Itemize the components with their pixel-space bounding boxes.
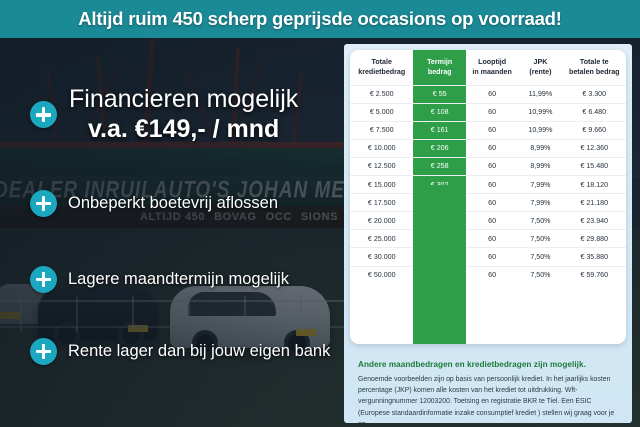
table-row: € 50.000€ 996607,50%€ 59.760: [350, 266, 626, 284]
table-cell: 7,50%: [518, 266, 562, 284]
table-cell: € 12.500: [350, 157, 413, 175]
disclaimer-title: Andere maandbedragen en kredietbedragen …: [358, 360, 620, 369]
column-header-line-2: bedrag: [428, 68, 452, 76]
table-cell: € 15.000: [350, 176, 413, 194]
table-row: € 12.500€ 258608,99%€ 15.480: [350, 157, 626, 175]
promo-banner-text: Altijd ruim 450 scherp geprijsde occasio…: [78, 8, 562, 30]
table-row: € 17.500€ 353607,99%€ 21.180: [350, 194, 626, 212]
benefit-item-0: Onbeperkt boetevrij aflossen: [30, 190, 278, 217]
column-header-line-1: Termijn: [427, 58, 452, 66]
column-header-total-payable: Totale te betalen bedrag: [563, 50, 627, 85]
column-header-line-2: (rente): [529, 68, 551, 76]
benefit-item-2: Rente lager dan bij jouw eigen bank: [30, 338, 330, 365]
column-header-line-1: JPK: [534, 58, 548, 66]
finance-info-panel: Totale kredietbedrag Termijn bedrag Loop…: [344, 44, 632, 423]
table-cell: € 2.500: [350, 85, 413, 103]
table-row: € 25.000€ 498607,50%€ 29.880: [350, 230, 626, 248]
table-cell: 60: [466, 176, 518, 194]
benefit-label-0: Onbeperkt boetevrij aflossen: [68, 193, 278, 214]
table-cell: € 108: [413, 103, 465, 121]
headline-lines: Financieren mogelijk v.a. €149,- / mnd: [69, 86, 298, 143]
table-cell: 7,50%: [518, 212, 562, 230]
benefits-list: Financieren mogelijk v.a. €149,- / mnd O…: [0, 38, 345, 427]
column-header-line-2: in maanden: [472, 68, 511, 76]
disclaimer-body: Genoemde voorbeelden zijn op basis van p…: [358, 374, 620, 423]
table-cell: 60: [466, 248, 518, 266]
headline-block: Financieren mogelijk v.a. €149,- / mnd: [30, 86, 298, 143]
table-cell: € 50.000: [350, 266, 413, 284]
table-cell: € 9.660: [563, 121, 627, 139]
table-row: € 2.500€ 556011,99%€ 3.300: [350, 85, 626, 103]
table-cell: 8,99%: [518, 157, 562, 175]
table-cell: 60: [466, 212, 518, 230]
table-cell: 60: [466, 85, 518, 103]
table-cell: € 15.480: [563, 157, 627, 175]
column-header-total-credit: Totale kredietbedrag: [350, 50, 413, 85]
table-cell: € 12.360: [563, 139, 627, 157]
rate-table-card: Totale kredietbedrag Termijn bedrag Loop…: [350, 50, 626, 344]
table-cell: € 7.500: [350, 121, 413, 139]
table-cell: € 21.180: [563, 194, 627, 212]
plus-icon: [30, 266, 57, 293]
table-cell: 60: [466, 266, 518, 284]
column-header-line-1: Looptijd: [478, 58, 506, 66]
rate-table-head: Totale kredietbedrag Termijn bedrag Loop…: [350, 50, 626, 85]
table-cell: € 35.880: [563, 248, 627, 266]
table-cell: € 5.000: [350, 103, 413, 121]
table-row: € 5.000€ 1086010,99%€ 6.480: [350, 103, 626, 121]
table-cell: 60: [466, 230, 518, 248]
table-cell: 60: [466, 157, 518, 175]
table-cell: 7,50%: [518, 248, 562, 266]
table-cell: € 20.000: [350, 212, 413, 230]
rate-table-header-row: Totale kredietbedrag Termijn bedrag Loop…: [350, 50, 626, 85]
rate-table-body: € 2.500€ 556011,99%€ 3.300€ 5.000€ 10860…: [350, 85, 626, 284]
table-cell: € 10.000: [350, 139, 413, 157]
table-row: € 20.000€ 399607,50%€ 23.940: [350, 212, 626, 230]
column-header-line-1: Totale: [372, 58, 392, 66]
table-cell: € 18.120: [563, 176, 627, 194]
rate-table: Totale kredietbedrag Termijn bedrag Loop…: [350, 50, 626, 284]
plus-icon: [30, 190, 57, 217]
table-cell: € 258: [413, 157, 465, 175]
column-header-duration: Looptijd in maanden: [466, 50, 518, 85]
table-cell: 60: [466, 121, 518, 139]
disclaimer-block: Andere maandbedragen en kredietbedragen …: [358, 360, 620, 423]
plus-icon: [30, 101, 57, 128]
table-cell: 7,99%: [518, 176, 562, 194]
table-row: € 15.000€ 302607,99%€ 18.120: [350, 176, 626, 194]
table-cell: 11,99%: [518, 85, 562, 103]
table-row: € 30.000€ 598607,50%€ 35.880: [350, 248, 626, 266]
table-cell: € 29.880: [563, 230, 627, 248]
column-header-line-2: betalen bedrag: [569, 68, 619, 76]
benefit-item-1: Lagere maandtermijn mogelijk: [30, 266, 289, 293]
table-cell: € 206: [413, 139, 465, 157]
headline-line-2: v.a. €149,- / mnd: [69, 115, 298, 144]
benefit-label-2: Rente lager dan bij jouw eigen bank: [68, 341, 330, 362]
table-cell: € 23.940: [563, 212, 627, 230]
headline-line-1: Financieren mogelijk: [69, 86, 298, 114]
table-cell: 60: [466, 139, 518, 157]
plus-icon: [30, 338, 57, 365]
table-cell: € 161: [413, 121, 465, 139]
table-cell: € 59.760: [563, 266, 627, 284]
table-cell: 10,99%: [518, 121, 562, 139]
table-cell: 8,99%: [518, 139, 562, 157]
table-cell: 7,50%: [518, 230, 562, 248]
table-cell: 60: [466, 194, 518, 212]
column-header-line-1: Totale te: [580, 58, 609, 66]
table-cell: € 3.300: [563, 85, 627, 103]
table-cell: € 6.480: [563, 103, 627, 121]
table-cell: € 17.500: [350, 194, 413, 212]
term-column-tail: [413, 185, 465, 344]
column-header-line-2: kredietbedrag: [358, 68, 405, 76]
column-header-interest: JPK (rente): [518, 50, 562, 85]
benefit-label-1: Lagere maandtermijn mogelijk: [68, 269, 289, 290]
table-cell: € 30.000: [350, 248, 413, 266]
column-header-term-amount: Termijn bedrag: [413, 50, 465, 85]
table-cell: 7,99%: [518, 194, 562, 212]
table-cell: € 25.000: [350, 230, 413, 248]
table-row: € 7.500€ 1616010,99%€ 9.660: [350, 121, 626, 139]
table-cell: 60: [466, 103, 518, 121]
table-cell: 10,99%: [518, 103, 562, 121]
table-row: € 10.000€ 206608,99%€ 12.360: [350, 139, 626, 157]
promo-banner: Altijd ruim 450 scherp geprijsde occasio…: [0, 0, 640, 38]
table-cell: € 55: [413, 85, 465, 103]
